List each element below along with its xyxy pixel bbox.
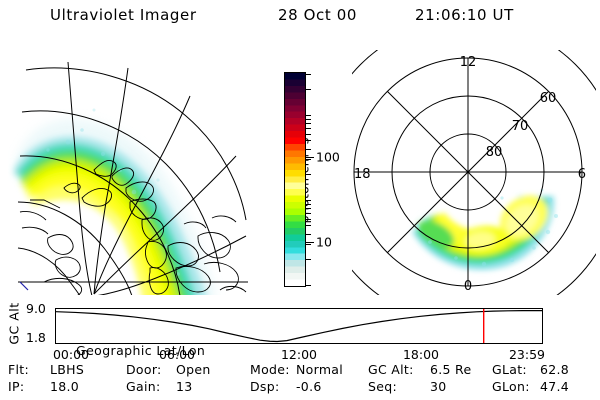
instrument-title: Ultraviolet Imager xyxy=(50,6,197,24)
gc-alt-xtick-4: 23:59 xyxy=(509,347,545,362)
status-label-seq: Seq: xyxy=(368,379,397,394)
status-label-door: Door: xyxy=(126,362,162,377)
apex-mlt-label-12: 12 xyxy=(460,55,477,70)
colorbar-minor-tick xyxy=(306,134,311,135)
gc-alt-xtick-0: 00:00 xyxy=(53,347,89,362)
colorbar-minor-tick xyxy=(306,244,311,245)
colorbar-minor-tick xyxy=(306,234,311,235)
status-value-dsp: -0.6 xyxy=(296,379,322,394)
colorbar-panel: photon cm-2s-1 100 10 xyxy=(250,60,350,300)
colorbar-label-100: 100 xyxy=(316,150,340,165)
apex-mlt-label-6: 6 xyxy=(578,167,586,182)
colorbar-minor-tick xyxy=(306,140,311,141)
colorbar-minor-tick xyxy=(306,149,311,150)
status-label-ip: IP: xyxy=(8,379,24,394)
status-value-flt: LBHS xyxy=(50,362,84,377)
colorbar-minor-tick xyxy=(306,119,311,120)
observation-time: 21:06:10 UT xyxy=(415,6,514,24)
gc-alt-timeseries: GC Alt 9.0 1.8 00:0006:0012:0018:0023:59 xyxy=(0,306,600,354)
apex-mlat-label-80: 80 xyxy=(486,145,503,160)
status-value-ip: 18.0 xyxy=(50,379,79,394)
status-value-glat: 62.8 xyxy=(540,362,569,377)
gc-alt-curve-svg xyxy=(56,309,542,343)
status-label-gcalt: GC Alt: xyxy=(368,362,414,377)
status-label-glon: GLon: xyxy=(492,379,530,394)
status-value-gain: 13 xyxy=(176,379,193,394)
colorbar-major-tick xyxy=(306,242,314,243)
colorbar-ticks xyxy=(306,72,314,287)
colorbar-minor-tick xyxy=(306,128,311,129)
apex-mlt-label-0: 0 xyxy=(464,279,472,294)
geographic-panel: Geographic Lat/Lon xyxy=(8,50,248,295)
colorbar-minor-tick xyxy=(306,74,311,75)
status-block: Flt:LBHSDoor:OpenMode:NormalGC Alt:6.5 R… xyxy=(0,362,600,400)
apex-plot: 12 18 6 0 80 70 60 xyxy=(352,50,596,295)
gc-alt-xtick-3: 18:00 xyxy=(403,347,439,362)
apex-panel: 12 18 6 0 80 70 60 Apex MLat/MLT xyxy=(352,50,596,295)
colorbar-minor-tick xyxy=(306,200,311,201)
colorbar-minor-tick xyxy=(306,159,311,160)
apex-mlat-label-60: 60 xyxy=(540,91,557,106)
status-label-dsp: Dsp: xyxy=(250,379,279,394)
gc-alt-curve xyxy=(56,311,542,342)
geographic-plot xyxy=(8,50,248,295)
status-label-glat: GLat: xyxy=(492,362,527,377)
colorbar-minor-tick xyxy=(306,174,311,175)
gc-alt-xtick-1: 06:00 xyxy=(159,347,195,362)
status-value-mode: Normal xyxy=(296,362,343,377)
uvi-screenshot: Ultraviolet Imager 28 Oct 00 21:06:10 UT xyxy=(0,0,600,400)
colorbar-minor-tick xyxy=(306,204,311,205)
gc-alt-xtick-2: 12:00 xyxy=(281,347,317,362)
colorbar-minor-tick xyxy=(306,89,311,90)
gc-alt-axis-label: GC Alt xyxy=(7,302,22,346)
status-value-gcalt: 6.5 Re xyxy=(430,362,471,377)
status-value-glon: 47.4 xyxy=(540,379,569,394)
status-value-seq: 30 xyxy=(430,379,447,394)
colorbar-label-10: 10 xyxy=(316,235,332,250)
colorbar-minor-tick xyxy=(306,123,311,124)
apex-mlat-label-70: 70 xyxy=(512,119,529,134)
status-value-door: Open xyxy=(176,362,211,377)
colorbar-minor-tick xyxy=(306,259,311,260)
status-label-gain: Gain: xyxy=(126,379,160,394)
apex-mlt-label-18: 18 xyxy=(354,167,371,182)
gc-alt-ytick-high: 9.0 xyxy=(26,301,46,316)
colorbar-gradient xyxy=(285,73,305,286)
status-label-flt: Flt: xyxy=(8,362,29,377)
colorbar-swatch xyxy=(284,72,306,287)
colorbar-minor-tick xyxy=(306,285,311,286)
colorbar-major-tick xyxy=(306,157,314,158)
colorbar-minor-tick xyxy=(306,115,311,116)
colorbar-minor-tick xyxy=(306,213,311,214)
header-bar: Ultraviolet Imager 28 Oct 00 21:06:10 UT xyxy=(0,6,600,28)
gc-alt-ytick-low: 1.8 xyxy=(26,330,46,345)
colorbar-minor-tick xyxy=(306,219,311,220)
status-label-mode: Mode: xyxy=(250,362,290,377)
gc-alt-frame xyxy=(55,308,543,344)
colorbar-minor-tick xyxy=(306,225,311,226)
observation-date: 28 Oct 00 xyxy=(278,6,357,24)
colorbar-minor-tick xyxy=(306,208,311,209)
